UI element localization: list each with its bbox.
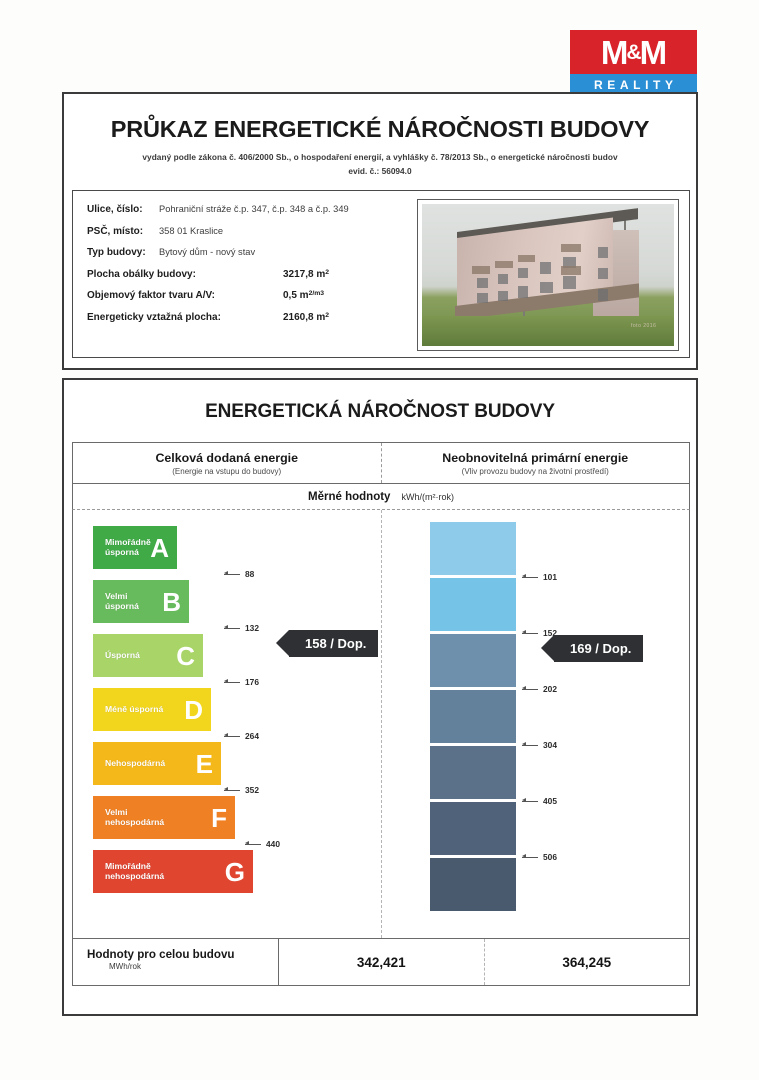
info-row-envelope-area: Plocha obálky budovy: 3217,8 m2: [87, 269, 406, 280]
whole-building-totals: Hodnoty pro celou budovu MWh/rok 342,421…: [72, 938, 690, 986]
band-letter-g: G: [225, 859, 245, 885]
column-title-delivered: Celková dodaná energie: [155, 451, 298, 465]
energy-band-e: Nehospodárná E: [93, 742, 221, 785]
band-letter-d: D: [184, 697, 203, 723]
primary-band-1: [430, 522, 516, 575]
window-shape: [598, 289, 608, 300]
info-label-shape-factor: Objemový faktor tvaru A/V:: [87, 290, 283, 301]
column-sub-delivered: (Energie na vstupu do budovy): [172, 467, 281, 476]
primary-threshold-tick-405: 405: [522, 796, 557, 806]
info-label-reference-area: Energeticky vztažná plocha:: [87, 312, 283, 323]
units-value: kWh/(m²·rok): [401, 492, 454, 502]
info-row-reference-area: Energeticky vztažná plocha: 2160,8 m2: [87, 312, 406, 323]
column-sub-primary: (Vliv provozu budovy na životní prostřed…: [462, 467, 609, 476]
primary-threshold-value-202: 202: [543, 684, 557, 694]
document-legal-subtitle: vydaný podle zákona č. 406/2000 Sb., o h…: [64, 152, 696, 162]
energy-band-c: Úsporná C: [93, 634, 203, 677]
window-shape: [540, 282, 553, 293]
grass-foreground: [422, 316, 674, 346]
logo-ampersand: &: [626, 42, 640, 63]
energy-band-g: Mimořádně nehospodárná G: [93, 850, 253, 893]
units-label: Měrné hodnoty: [308, 491, 390, 503]
info-value-reference-area: 2160,8 m2: [283, 312, 329, 323]
primary-threshold-tick-101: 101: [522, 572, 557, 582]
band-row-g: Mimořádně nehospodárná G: [93, 848, 353, 902]
building-photo: foto 2016: [422, 204, 674, 346]
tick-arrow-icon: [522, 801, 538, 802]
band-label-a: Mimořádně úsporná: [93, 538, 151, 558]
info-row-postcode: PSČ, místo: 358 01 Kraslice: [87, 226, 406, 237]
mm-reality-logo: M&M REALITY: [570, 30, 697, 95]
primary-band-7: [430, 858, 516, 911]
tick-arrow-icon: [522, 857, 538, 858]
tick-arrow-icon: [522, 577, 538, 578]
primary-band-3: [430, 634, 516, 687]
band-row-d: Méně úsporná D 264: [93, 686, 353, 740]
band-row-e: Nehospodárná E 352: [93, 740, 353, 794]
logo-m1: M: [601, 36, 628, 69]
info-label-envelope-area: Plocha obálky budovy:: [87, 269, 283, 280]
band-label-b: Velmi úsporná: [93, 592, 139, 612]
totals-value-delivered: 342,421: [279, 939, 484, 985]
info-value-street: Pohraniční stráže č.p. 347, č.p. 348 a č…: [159, 204, 349, 214]
band-label-f: Velmi nehospodárná: [93, 808, 164, 828]
band-letter-c: C: [176, 643, 195, 669]
primary-threshold-tick-304: 304: [522, 740, 557, 750]
energy-band-d: Méně úsporná D: [93, 688, 211, 731]
info-value-envelope-area: 3217,8 m2: [283, 269, 329, 280]
window-shape: [540, 262, 550, 273]
info-label-street: Ulice, číslo:: [87, 204, 159, 215]
result-marker-primary-energy: 169 / Dop.: [554, 635, 643, 662]
info-label-building-type: Typ budovy:: [87, 247, 159, 258]
photo-date-stamp: foto 2016: [631, 323, 656, 329]
balcony-shape: [561, 244, 581, 253]
primary-band-5: [430, 746, 516, 799]
logo-m2: M: [640, 36, 667, 69]
band-letter-f: F: [211, 805, 227, 831]
info-value-building-type: Bytový dům - nový stav: [159, 247, 255, 257]
band-letter-a: A: [150, 535, 169, 561]
tick-arrow-icon: [522, 633, 538, 634]
primary-threshold-tick-202: 202: [522, 684, 557, 694]
info-value-postcode: 358 01 Kraslice: [159, 226, 223, 236]
info-row-shape-factor: Objemový faktor tvaru A/V: 0,5 m2/m3: [87, 290, 406, 301]
tick-arrow-icon: [522, 689, 538, 690]
primary-band-6: [430, 802, 516, 855]
info-label-postcode: PSČ, místo:: [87, 226, 159, 237]
energy-band-f: Velmi nehospodárná F: [93, 796, 235, 839]
balcony-shape: [495, 261, 513, 268]
totals-label-cell: Hodnoty pro celou budovu MWh/rok: [73, 939, 279, 985]
totals-unit: MWh/rok: [87, 962, 278, 971]
primary-band-4: [430, 690, 516, 743]
window-shape: [598, 268, 608, 279]
page-title: PRŮKAZ ENERGETICKÉ NÁROČNOSTI BUDOVY: [64, 116, 696, 143]
window-shape: [498, 291, 508, 301]
energy-band-b: Velmi úsporná B: [93, 580, 189, 623]
info-value-shape-factor: 0,5 m2/m3: [283, 290, 324, 301]
tick-arrow-icon: [224, 790, 240, 791]
column-header-delivered-energy: Celková dodaná energie (Energie na vstup…: [73, 443, 381, 483]
result-marker-delivered-energy: 158 / Dop.: [289, 630, 378, 657]
column-header-primary-energy: Neobnovitelná primární energie (Vliv pro…: [381, 443, 690, 483]
band-label-e: Nehospodárná: [93, 759, 165, 769]
tick-arrow-icon: [522, 745, 538, 746]
band-row-a: Mimořádně úsporná A 88: [93, 524, 353, 578]
window-shape: [518, 268, 528, 278]
band-letter-e: E: [196, 751, 213, 777]
band-letter-b: B: [162, 589, 181, 615]
column-divider: [381, 510, 382, 938]
band-label-d: Méně úsporná: [93, 705, 163, 715]
totals-value-primary: 364,245: [484, 939, 690, 985]
band-row-b: Velmi úsporná B 132: [93, 578, 353, 632]
header-frame: PRŮKAZ ENERGETICKÉ NÁROČNOSTI BUDOVY vyd…: [62, 92, 698, 370]
energy-band-a: Mimořádně úsporná A: [93, 526, 177, 569]
tick-arrow-icon: [224, 682, 240, 683]
info-row-building-type: Typ budovy: Bytový dům - nový stav: [87, 247, 406, 258]
column-title-primary: Neobnovitelná primární energie: [442, 451, 628, 465]
document-page: M&M REALITY PRŮKAZ ENERGETICKÉ NÁROČNOST…: [0, 0, 759, 1080]
band-row-f: Velmi nehospodárná F 440: [93, 794, 353, 848]
balcony-shape: [561, 266, 581, 275]
primary-band-2: [430, 578, 516, 631]
band-label-c: Úsporná: [93, 651, 140, 661]
tick-arrow-icon: [245, 844, 261, 845]
tick-arrow-icon: [224, 628, 240, 629]
window-shape: [477, 278, 487, 288]
energy-class-ladder: Mimořádně úsporná A 88 Velmi úsporná B: [93, 524, 353, 902]
section-title: ENERGETICKÁ NÁROČNOST BUDOVY: [64, 401, 696, 423]
primary-threshold-value-506: 506: [543, 852, 557, 862]
band-label-g: Mimořádně nehospodárná: [93, 862, 164, 882]
balcony-shape: [518, 255, 536, 262]
window-shape: [477, 293, 487, 303]
totals-label: Hodnoty pro celou budovu: [87, 948, 278, 961]
window-shape: [598, 247, 608, 258]
building-info-panel: Ulice, číslo: Pohraniční stráže č.p. 347…: [72, 190, 690, 358]
window-shape: [498, 274, 508, 284]
logo-wordmark: M&M: [570, 30, 697, 74]
window-shape: [563, 276, 576, 289]
primary-threshold-tick-506: 506: [522, 852, 557, 862]
building-photo-frame: foto 2016: [417, 199, 679, 351]
building-info-list: Ulice, číslo: Pohraniční stráže č.p. 347…: [73, 191, 406, 357]
window-shape: [518, 286, 528, 297]
primary-threshold-value-101: 101: [543, 572, 557, 582]
info-row-street: Ulice, číslo: Pohraniční stráže č.p. 347…: [87, 204, 406, 215]
units-row: Měrné hodnoty kWh/(m²·rok): [72, 484, 690, 510]
tick-arrow-icon: [224, 574, 240, 575]
primary-threshold-value-304: 304: [543, 740, 557, 750]
tick-arrow-icon: [224, 736, 240, 737]
column-headers: Celková dodaná energie (Energie na vstup…: [72, 442, 690, 484]
energy-scales: Mimořádně úsporná A 88 Velmi úsporná B: [72, 510, 690, 938]
primary-energy-ladder: 101 152 202 304 405: [430, 522, 516, 914]
balcony-shape: [472, 266, 490, 273]
energy-rating-frame: ENERGETICKÁ NÁROČNOST BUDOVY Celková dod…: [62, 378, 698, 1016]
primary-threshold-value-405: 405: [543, 796, 557, 806]
evidence-number: evid. č.: 56094.0: [64, 166, 696, 176]
